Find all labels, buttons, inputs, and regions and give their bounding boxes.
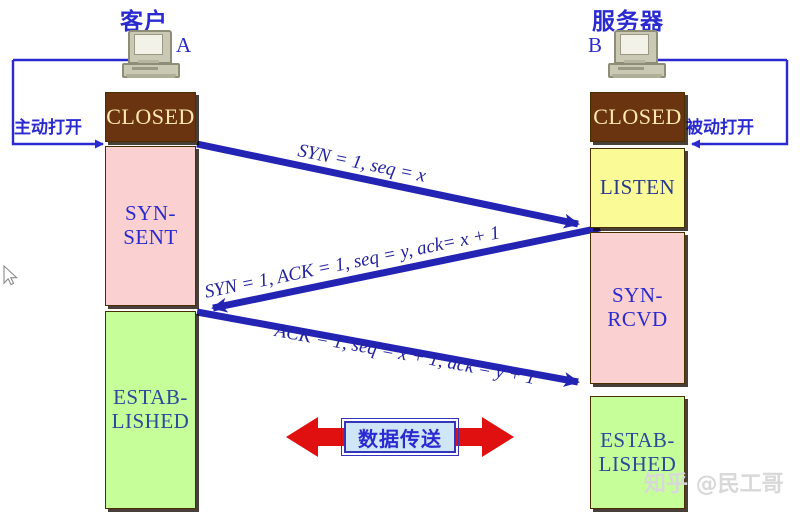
client-state-closed: CLOSED (105, 92, 196, 142)
passive-open-label: 被动打开 (686, 113, 754, 138)
watermark: 知乎 @民工哥 (644, 466, 784, 498)
mouse-cursor (4, 266, 17, 285)
client-node-letter: A (176, 33, 191, 58)
server-state-listen: LISTEN (590, 148, 685, 228)
client-computer-icon (122, 30, 180, 78)
message-label-syn-ack: SYN = 1, ACK = 1, seq = y, ack= x + 1 (203, 222, 502, 304)
message-label-syn: SYN = 1, seq = x (296, 140, 428, 188)
message-arrow-1 (197, 144, 578, 224)
client-state-syn-sent: SYN- SENT (105, 146, 196, 306)
server-node-letter: B (588, 33, 602, 58)
active-open-label: 主动打开 (14, 113, 82, 138)
server-computer-icon (608, 30, 666, 78)
client-state-established: ESTAB- LISHED (105, 311, 196, 509)
message-label-ack: ACK = 1, seq = x + 1, ack = y + 1 (273, 320, 537, 390)
data-transfer-box: 数据传送 (344, 421, 456, 453)
tcp-handshake-diagram: 客户 服务器 A B 主动打开 被动打开 CLOSED SYN- SENT ES… (0, 0, 800, 515)
server-state-closed: CLOSED (590, 92, 685, 142)
server-state-syn-rcvd: SYN- RCVD (590, 232, 685, 384)
